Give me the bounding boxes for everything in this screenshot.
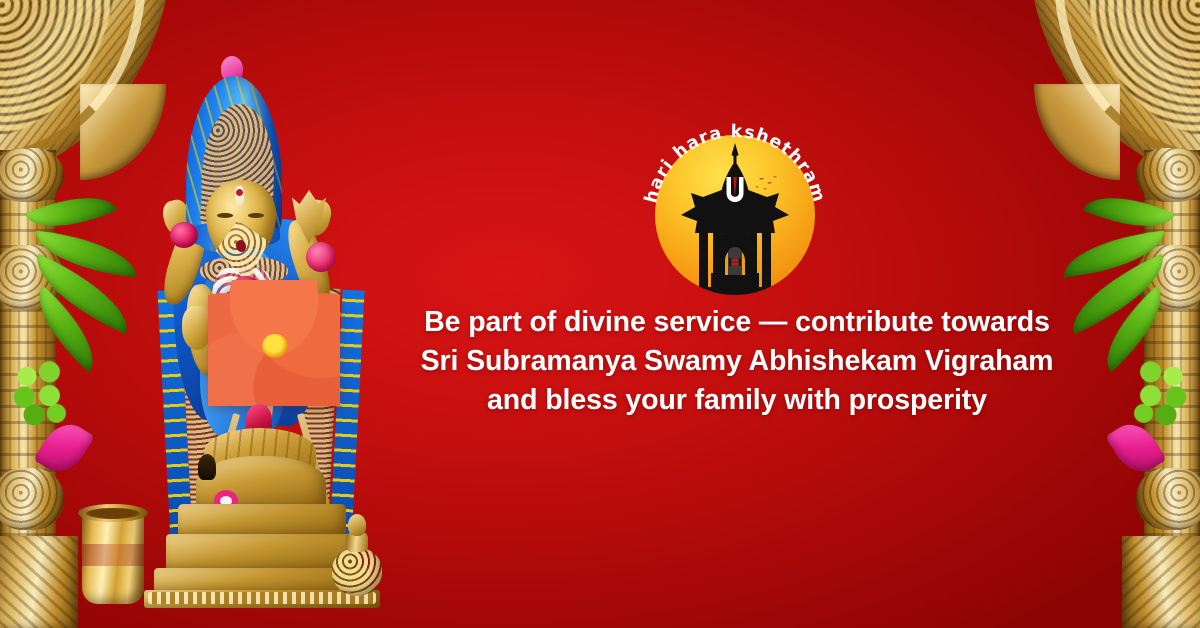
deity-statue-image: [78, 52, 388, 618]
kalash-coconut: [348, 514, 366, 536]
tilak-red-dot: [236, 189, 243, 196]
vaishnava-tilak-icon: [727, 177, 744, 202]
pedestal-tier-1: [178, 504, 346, 538]
brass-pot-mouth: [86, 508, 140, 519]
pillar-knob-left-3: [0, 468, 64, 530]
green-leaf-right-2: [1060, 231, 1167, 278]
donation-banner: hari hara kshethram Be part of divine se…: [0, 0, 1200, 628]
right-decorative-border: [1068, 0, 1200, 628]
temple-logo[interactable]: hari hara kshethram: [655, 135, 815, 295]
gold-arch-ornament-right: [1028, 0, 1200, 182]
headline-line-1: Be part of divine service — contribute t…: [392, 303, 1082, 342]
gold-pillar-right: [1144, 150, 1200, 628]
pedestal-bead-trim: [148, 592, 376, 604]
gold-kalash-pot: [332, 548, 382, 596]
gold-pillar-left: [0, 150, 56, 628]
deity-eye-left: [217, 213, 233, 218]
green-leaf-right-4: [1088, 286, 1179, 373]
pillar-knob-right-1: [1136, 148, 1200, 202]
deity-eye-right: [248, 213, 264, 218]
pink-rose-1: [170, 222, 198, 248]
pillar-knob-right-2: [1136, 245, 1200, 311]
pillar-knob-left-2: [0, 245, 64, 311]
headline-text: Be part of divine service — contribute t…: [392, 303, 1082, 420]
gold-scrollwork-right: [1084, 0, 1200, 138]
hibiscus-stamen: [262, 334, 288, 358]
pillar-knob-right-3: [1136, 468, 1200, 530]
gold-arch-band-right: [1054, 0, 1200, 162]
brass-pot-stripe: [82, 544, 144, 566]
headline-line-2: Sri Subramanya Swamy Abhishekam Vigraham: [392, 342, 1082, 381]
headline-line-3: and bless your family with prosperity: [392, 381, 1082, 420]
pedestal-tier-2: [166, 534, 358, 572]
green-leaf-right-1: [1083, 179, 1175, 245]
pillar-knob-left-1: [0, 148, 64, 202]
shiva-lingam-icon: [728, 247, 742, 275]
pink-rose-3: [306, 242, 336, 272]
temple-silhouette-icon: [655, 135, 815, 295]
leaf-cluster-left: [6, 360, 76, 434]
small-oil-lamp: [198, 454, 216, 480]
pillar-plinth-left: [0, 536, 78, 628]
pink-flower-bud-right: [1105, 415, 1166, 480]
pillar-plinth-right: [1122, 536, 1200, 628]
leaf-cluster-right: [1124, 360, 1194, 434]
